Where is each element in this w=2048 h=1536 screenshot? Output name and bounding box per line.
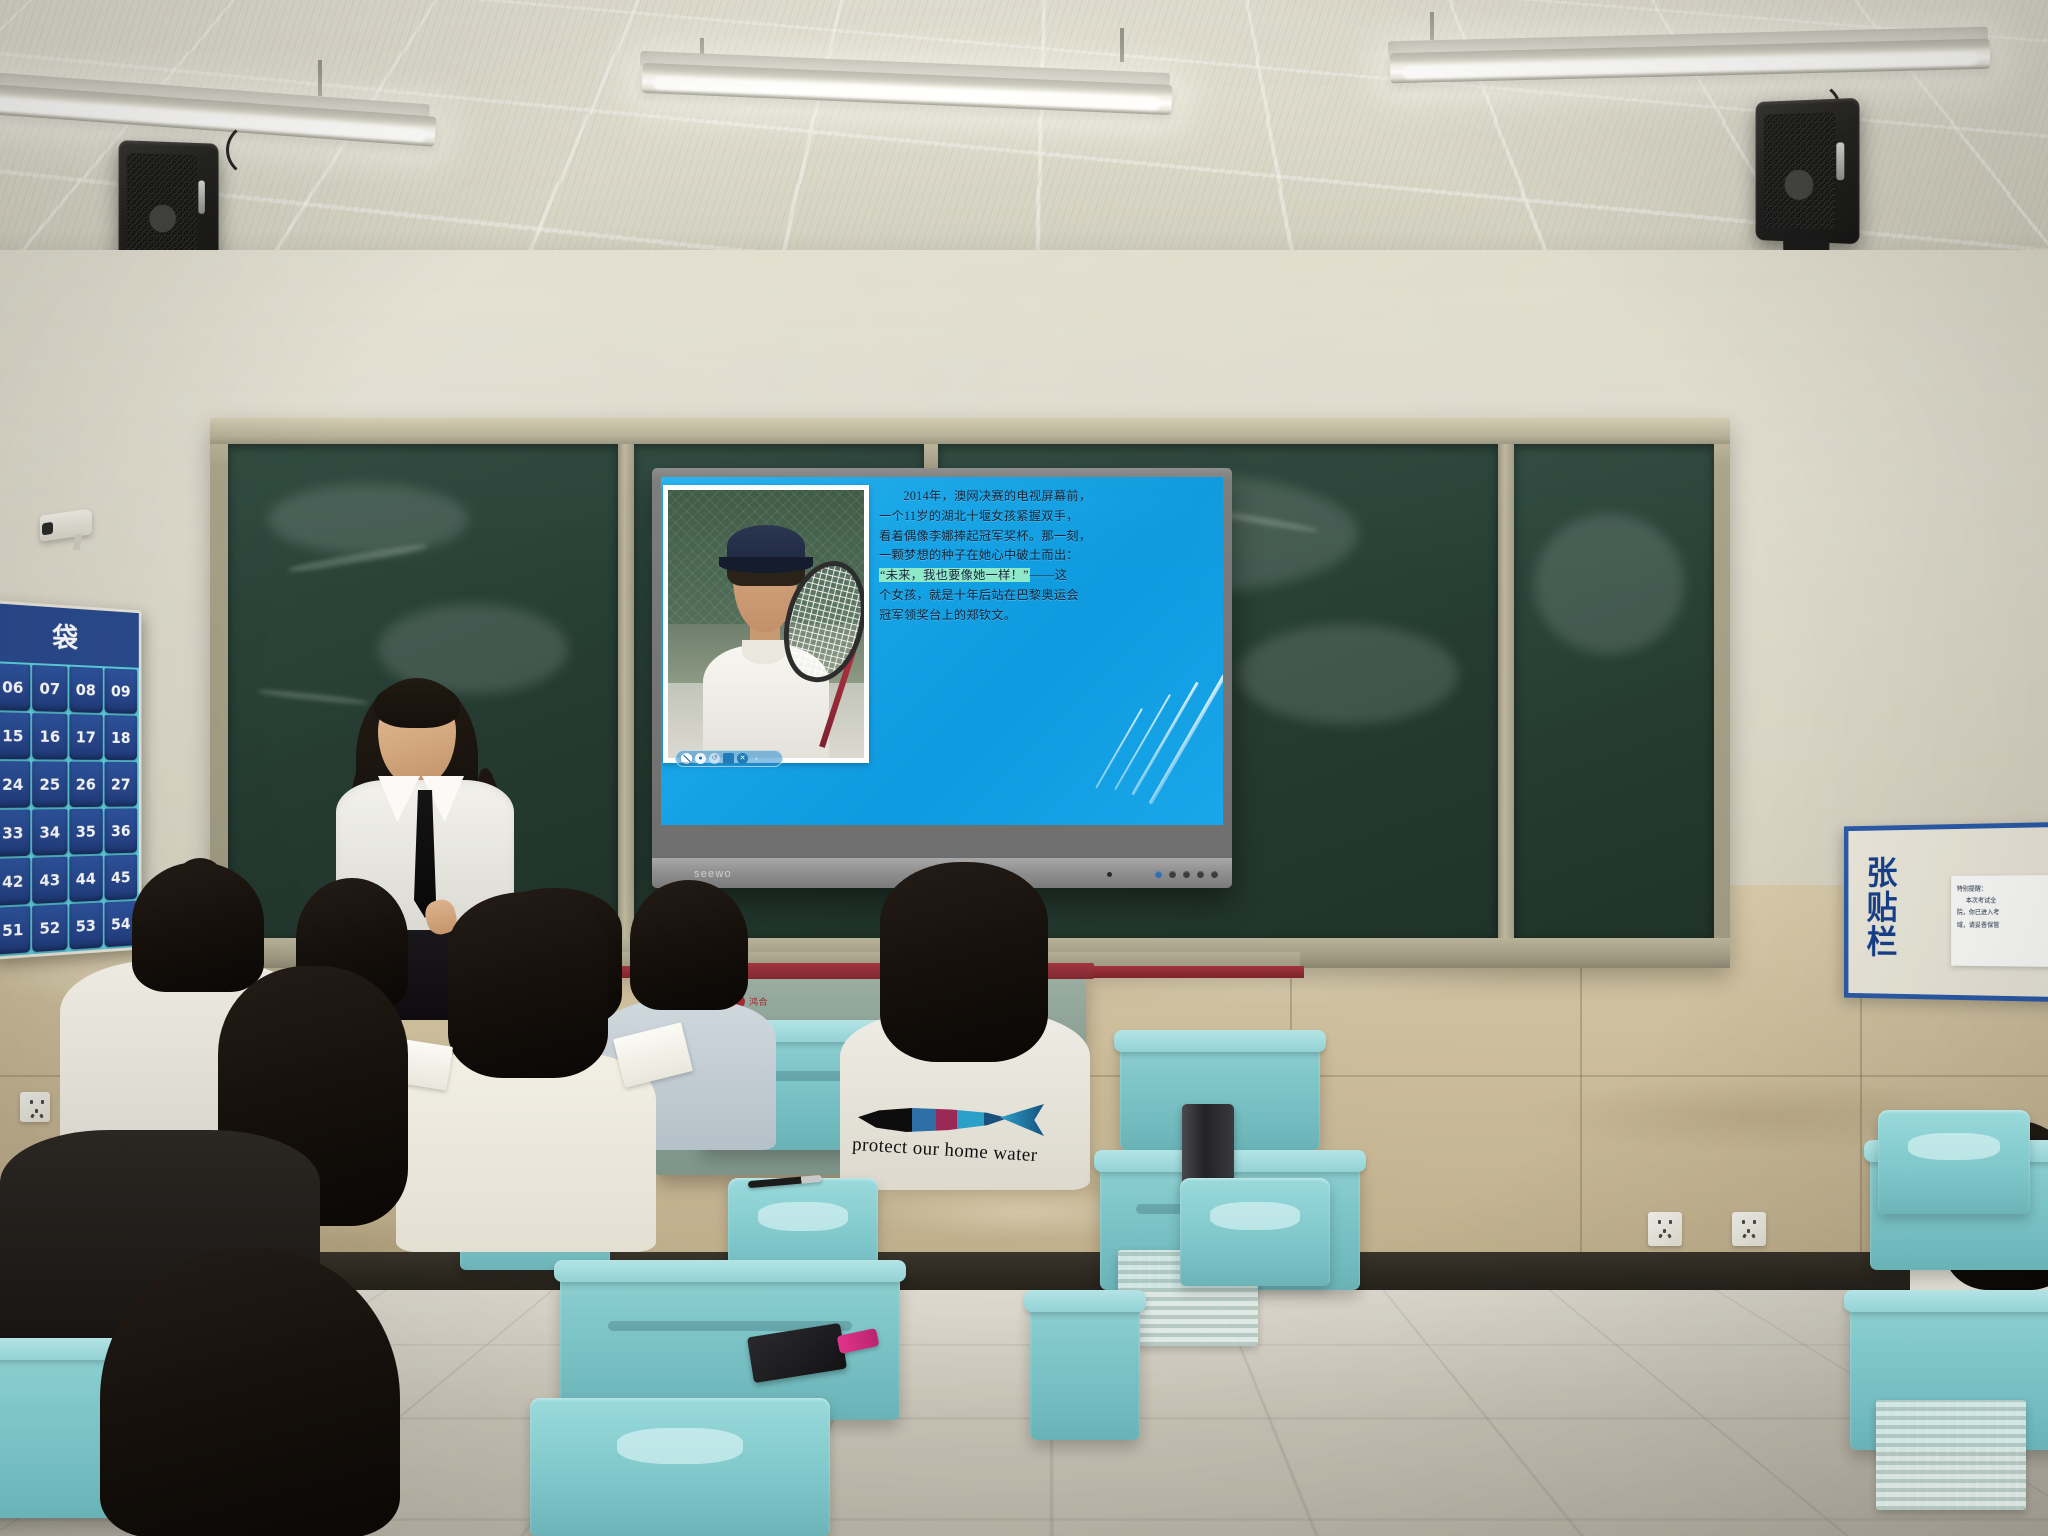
- speaker-cable: [226, 120, 296, 180]
- power-key-icon[interactable]: [1155, 871, 1162, 878]
- pocket-cell[interactable]: 53: [69, 902, 103, 949]
- student-hair: [100, 1248, 400, 1536]
- chalkboard-panel-far-right: [1514, 444, 1714, 938]
- power-outlet[interactable]: [1732, 1212, 1766, 1246]
- security-camera: [40, 512, 102, 554]
- desk-surface: [554, 1260, 906, 1282]
- deco-beam: [1149, 673, 1223, 805]
- tshirt-graphic: protect our home water: [846, 1100, 1056, 1164]
- pocket-cell[interactable]: 44: [69, 856, 103, 903]
- slide-after-quote: ——这: [1030, 568, 1067, 582]
- slide-quote-line: “未来，我也要像她一样！”——这: [879, 566, 1217, 586]
- pocket-cell[interactable]: 51: [0, 906, 31, 955]
- desk-storage-basket: [1876, 1400, 2026, 1510]
- student-hair: [880, 862, 1048, 1062]
- athlete-cap-brim: [719, 557, 813, 573]
- slide-text-block: 2014年，澳网决赛的电视屏幕前， 一个11岁的湖北十堰女孩紧握双手， 看着偶像…: [879, 487, 1217, 625]
- smart-board-brand-logo: seewo: [694, 868, 732, 880]
- student: [880, 862, 1048, 1062]
- pocket-cell[interactable]: 09: [104, 668, 137, 714]
- chair-handle-icon: [617, 1428, 743, 1464]
- student: [630, 880, 748, 1010]
- record-circle-icon[interactable]: ●: [695, 753, 706, 764]
- student: [448, 892, 608, 1078]
- chalk-smudge: [268, 484, 468, 554]
- slide-line-1: 2014年，澳网决赛的电视屏幕前，: [879, 487, 1217, 507]
- chalk-smudge: [1534, 514, 1684, 654]
- undo-icon[interactable]: ↺: [709, 753, 720, 764]
- pen-icon[interactable]: [681, 755, 692, 762]
- teacher-fringe: [374, 682, 460, 728]
- slide-line-2: 一个11岁的湖北十堰女孩紧握双手，: [879, 507, 1217, 527]
- slide-line-3: 看着偶像李娜捧起冠军奖杯。那一刻，: [879, 527, 1217, 547]
- pocket-cell[interactable]: 15: [0, 712, 31, 759]
- pocket-cell[interactable]: 34: [32, 809, 67, 856]
- student-hair: [630, 880, 748, 1010]
- speaker-grille-icon: [1763, 112, 1835, 230]
- student-desk: [1030, 1300, 1140, 1440]
- phone-pocket-chart: 袋 06 07 08 09 15 16 17 18 24 25 26 27 33…: [0, 600, 141, 960]
- outlet-two-pin-slot-icon: [1740, 1220, 1758, 1224]
- pocket-cell[interactable]: 42: [0, 858, 31, 906]
- classroom-photo: 2014年，澳网决赛的电视屏幕前， 一个11岁的湖北十堰女孩紧握双手， 看着偶像…: [0, 0, 2048, 1536]
- desk-surface: [1844, 1290, 2048, 1312]
- teacher-tie: [414, 790, 436, 918]
- slide-line-4: 一颗梦想的种子在她心中破土而出：: [879, 546, 1217, 566]
- slide-photo-athlete: [668, 490, 864, 758]
- wall-speaker-right: [1756, 98, 1860, 244]
- pocket-cell[interactable]: 06: [0, 663, 31, 711]
- speaker-grille-icon: [127, 152, 198, 260]
- pocket-chart-header: 袋: [0, 603, 139, 668]
- fish-tail-icon: [1000, 1104, 1044, 1136]
- camera-mount: [73, 534, 83, 550]
- light-hanger: [1120, 28, 1124, 62]
- pocket-cell[interactable]: 52: [32, 904, 67, 952]
- outlet-three-pin-slot-icon: [31, 1109, 43, 1118]
- deco-beam: [1095, 708, 1143, 789]
- power-outlet[interactable]: [20, 1092, 50, 1122]
- pocket-cell[interactable]: 17: [69, 714, 103, 760]
- slide-photo-frame: [663, 485, 869, 763]
- pocket-cell[interactable]: 18: [104, 715, 137, 760]
- control-key-icon[interactable]: [1197, 871, 1204, 878]
- speaker-tweeter-icon: [1837, 142, 1845, 180]
- chair-handle-icon: [758, 1202, 848, 1231]
- pocket-cell[interactable]: 35: [69, 809, 103, 855]
- pocket-cell[interactable]: 07: [32, 665, 67, 712]
- smart-board[interactable]: 2014年，澳网决赛的电视屏幕前， 一个11岁的湖北十堰女孩紧握双手， 看着偶像…: [652, 468, 1232, 888]
- student-chair: [1180, 1178, 1330, 1286]
- student-foreground: [100, 1248, 400, 1536]
- outlet-three-pin-slot-icon: [1743, 1229, 1755, 1238]
- control-key-icon[interactable]: [1183, 871, 1190, 878]
- student-hair: [448, 892, 608, 1078]
- light-hanger: [318, 60, 322, 96]
- student-chair: [530, 1398, 830, 1536]
- pocket-cell[interactable]: 43: [32, 857, 67, 904]
- bulletin-board: 张贴栏 特别提醒： 本次考试全 院，你已进入考 域，请妥善保管: [1844, 822, 2048, 1002]
- pocket-cell[interactable]: 33: [0, 810, 31, 857]
- presentation-slide: 2014年，澳网决赛的电视屏幕前， 一个11岁的湖北十堰女孩紧握双手， 看着偶像…: [661, 477, 1223, 825]
- chalk-smudge: [1238, 624, 1458, 724]
- pocket-cell[interactable]: 26: [69, 762, 103, 808]
- student-chair: [1878, 1110, 2030, 1214]
- power-outlet[interactable]: [1648, 1212, 1682, 1246]
- podium-logo-text: 鸿合: [749, 995, 768, 1008]
- camera-lens-icon: [42, 522, 53, 536]
- outlet-two-pin-slot-icon: [1656, 1220, 1674, 1224]
- smart-board-control-keys[interactable]: [1155, 871, 1218, 878]
- chair-handle-icon: [1908, 1133, 1999, 1160]
- pocket-cell[interactable]: 36: [104, 808, 137, 853]
- pocket-cell[interactable]: 24: [0, 761, 31, 808]
- smart-board-screen[interactable]: 2014年，澳网决赛的电视屏幕前， 一个11岁的湖北十堰女孩紧握双手， 看着偶像…: [661, 477, 1223, 825]
- desk-surface: [1114, 1030, 1326, 1052]
- control-key-icon[interactable]: [1169, 871, 1176, 878]
- notice-line: 域，请妥善保管: [1957, 918, 2048, 930]
- fish-body-icon: [858, 1108, 1008, 1132]
- camera-body: [40, 508, 92, 541]
- athlete-collar: [742, 640, 785, 664]
- chalkboard-divider: [1498, 444, 1514, 938]
- desk-surface: [1024, 1290, 1146, 1312]
- collapse-icon[interactable]: ‹: [751, 753, 762, 764]
- slide-decorative-beams: [1023, 665, 1223, 825]
- smart-board-floating-toolbar[interactable]: ◉ ● ↺ ✕ ‹: [675, 750, 783, 767]
- bulletin-board-title: 张贴栏: [1863, 855, 1894, 959]
- notice-line: 特别提醒：: [1957, 882, 2048, 895]
- chalkboard-divider: [618, 444, 634, 938]
- pocket-cell[interactable]: 25: [32, 761, 67, 807]
- pocket-chart-grid: 06 07 08 09 15 16 17 18 24 25 26 27 33 3…: [0, 661, 139, 957]
- control-key-icon[interactable]: [1211, 871, 1218, 878]
- pocket-cell[interactable]: 16: [32, 713, 67, 760]
- deco-beam: [1131, 682, 1199, 796]
- slide-closing-2: 冠军领奖台上的郑钦文。: [879, 606, 1217, 626]
- outlet-two-pin-slot-icon: [28, 1100, 46, 1104]
- outlet-three-pin-slot-icon: [1659, 1229, 1671, 1238]
- chalkboard-top-rail: [210, 418, 1730, 444]
- notice-line: 本次考试全: [1957, 894, 2048, 906]
- ir-sensor-icon: [1107, 872, 1112, 877]
- close-circle-icon[interactable]: ✕: [737, 753, 748, 764]
- chair-handle-icon: [1210, 1202, 1300, 1230]
- pocket-cell[interactable]: 08: [69, 667, 103, 713]
- notice-line: 院，你已进入考: [1957, 906, 2048, 918]
- speaker-tweeter-icon: [199, 181, 206, 214]
- light-hanger: [1430, 12, 1434, 40]
- screen-icon[interactable]: [723, 753, 734, 764]
- deco-beam: [1114, 694, 1171, 790]
- pocket-cell[interactable]: 27: [104, 762, 137, 807]
- slide-closing-1: 个女孩，就是十年后站在巴黎奥运会: [879, 586, 1217, 606]
- slide-highlighted-quote: “未来，我也要像她一样！”: [879, 568, 1030, 582]
- exam-notice-paper: 特别提醒： 本次考试全 院，你已进入考 域，请妥善保管: [1951, 875, 2048, 967]
